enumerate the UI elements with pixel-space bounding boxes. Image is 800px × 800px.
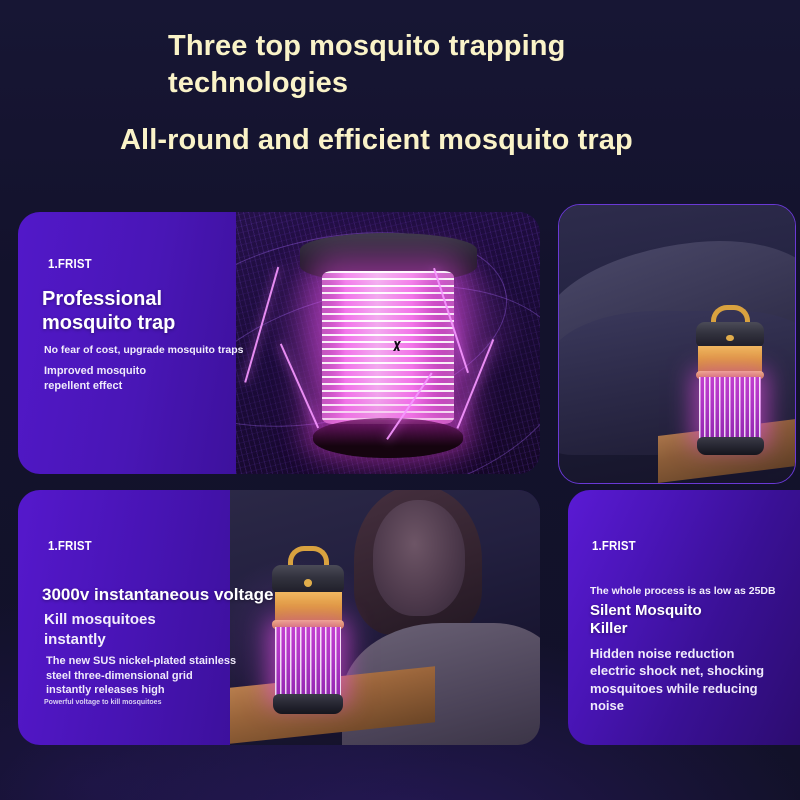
lamp-base [273,694,344,714]
card-subtitle: The whole process is as low as 25DB [590,585,776,599]
card-body-line-3: instantly releases high [46,683,236,698]
lamp-gold-band [275,592,342,624]
card-body-line-2: repellent effect [44,379,146,394]
page-title-primary: Three top mosquito trapping technologies [0,28,800,101]
card-body: Improved mosquito repellent effect [44,364,146,393]
card-subtitle: No fear of cost, upgrade mosquito traps [44,344,244,358]
card-title: Silent Mosquito Killer [590,602,702,637]
mosquito-icon [384,341,410,351]
lamp-gold-band [698,346,762,375]
card-body-line-1: The new SUS nickel-plated stainless [46,654,236,669]
card-body-line-4: noise [590,697,764,714]
headline-block: Three top mosquito trapping technologies… [0,28,800,158]
card-title: Professional mosquito trap [42,288,175,335]
page-title-secondary: All-round and efficient mosquito trap [0,123,800,158]
lamp-cap [696,322,765,348]
lamp-cap [272,565,344,594]
feature-card-professional-trap[interactable] [18,212,540,474]
card-label-first: 1.FRIST [48,256,92,271]
card-title-line-2: mosquito trap [42,312,175,336]
card-subtitle: Kill mosquitoes instantly [44,610,156,649]
card-subtitle-line-2: instantly [44,630,156,650]
card-title-line-1: Silent Mosquito [590,602,702,620]
card-micro-caption: Powerful voltage to kill mosquitoes [44,698,161,707]
card-title-line-1: Professional [42,288,175,312]
card-body-line-1: Improved mosquito [44,364,146,379]
card-label-first: 1.FRIST [48,538,92,553]
bedroom-photo [559,205,795,483]
woman-face [373,500,465,616]
lamp-uv-grid [275,627,341,698]
card-body-line-2: steel three-dimensional grid [46,669,236,684]
card-title-line-2: Killer [590,620,702,638]
card-body: The new SUS nickel-plated stainless stee… [46,654,236,698]
mosquito-lamp-product [691,305,769,455]
zapper-closeup-photo [236,212,540,474]
card-subtitle-line-1: Kill mosquitoes [44,610,156,630]
product-feature-poster: Three top mosquito trapping technologies… [0,0,800,800]
mosquito-lamp-product [267,546,349,714]
lamp-base [697,437,764,455]
lamp-uv-grid [699,377,761,440]
card-body: Hidden noise reduction electric shock ne… [590,645,764,715]
card-title: 3000v instantaneous voltage [42,585,273,605]
woman-room-photo [230,490,540,745]
feature-card-bedroom-scene[interactable] [558,204,796,484]
card-body-line-1: Hidden noise reduction [590,645,764,662]
card-label-first: 1.FRIST [592,538,636,553]
card-body-line-3: mosquitoes while reducing [590,680,764,697]
card-body-line-2: electric shock net, shocking [590,662,764,679]
